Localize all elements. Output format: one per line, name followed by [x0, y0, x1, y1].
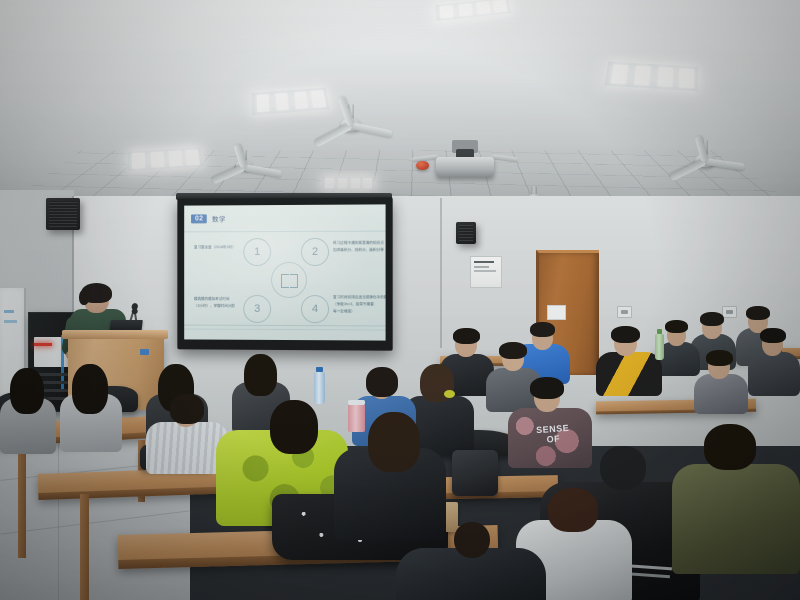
student-hair	[72, 364, 108, 414]
student-hair	[760, 328, 786, 343]
student-hair	[548, 488, 598, 532]
presentation-slide: 02 数学 1 2 3 4 复习整全盘（2018年3月） 练	[184, 204, 385, 340]
power-outlet	[617, 306, 632, 318]
slide-item-circle-2: 2	[301, 238, 329, 266]
slide-item-text-2b: 如求最积分、线积分、面积分等	[333, 248, 384, 253]
slide-item-number: 4	[312, 303, 318, 315]
slide-item-text-3b: （3小时），掌握时间分配	[194, 304, 235, 309]
blue-water-bottle	[314, 372, 325, 404]
slide-item-text-4: 复习时间安排应适当规律化中的题型	[333, 295, 386, 300]
student-yellow-black-jacket	[596, 328, 662, 394]
student-hair	[170, 394, 204, 424]
backpack	[452, 450, 498, 496]
whiteboard-mark	[4, 310, 14, 313]
student-black-hoodie	[334, 418, 446, 536]
lecturer-hair	[81, 283, 112, 303]
student-olive-jacket	[672, 430, 800, 570]
lectern-badge	[140, 349, 149, 355]
slide-item-text-3: 模具题的模拟考试时间	[194, 297, 229, 302]
student-bottom-center	[396, 532, 546, 600]
slide-center-circle	[271, 262, 307, 298]
slide-item-circle-3: 3	[243, 295, 271, 323]
slide-item-text-1: 复习整全盘（2018年3月）	[194, 245, 236, 250]
slide-item-text-4b: （争取3h×3，按章节需要	[333, 302, 374, 307]
projection-screen: 02 数学 1 2 3 4 复习整全盘（2018年3月） 练	[177, 197, 392, 350]
green-water-bottle	[655, 334, 664, 360]
student-right-mid	[748, 330, 800, 392]
slide-item-circle-4: 4	[301, 295, 329, 323]
student-head	[600, 446, 646, 490]
student-torso	[596, 352, 662, 396]
student-head	[454, 522, 490, 558]
student-hair	[530, 377, 564, 399]
hair-tie	[444, 390, 455, 398]
slide-header: 02 数学	[191, 213, 226, 223]
student-hair	[368, 412, 420, 472]
wall-speaker	[456, 222, 476, 244]
slide-item-number: 1	[254, 246, 260, 258]
whiteboard-mark	[4, 320, 17, 323]
student-hair	[10, 368, 44, 414]
student-hair	[499, 342, 527, 359]
classroom-photo: 02 数学 1 2 3 4 复习整全盘（2018年3月） 练	[0, 0, 800, 600]
student-torso	[672, 464, 800, 574]
wall-seam	[440, 198, 442, 348]
student-left-mid	[60, 366, 122, 448]
slide-item-text-4c: 每一定难度）	[333, 309, 355, 314]
student-hair	[270, 400, 318, 454]
student-hair	[530, 322, 555, 337]
desk-leg	[80, 494, 89, 600]
slide-item-number: 3	[254, 303, 260, 315]
door-sign	[547, 305, 566, 320]
slide-item-number: 2	[312, 246, 318, 258]
desk-leg	[18, 440, 26, 558]
student-left-mid	[0, 370, 56, 450]
student-hair	[611, 326, 640, 343]
student-hair	[366, 367, 398, 397]
student-hair	[704, 424, 756, 470]
student-right-mid	[694, 352, 748, 410]
lectern-top	[62, 330, 168, 339]
slide-item-text-2: 练习过程中遇到易混淆的知识点	[333, 241, 384, 246]
student-hair	[706, 350, 733, 366]
slide-section-title: 数学	[212, 213, 226, 223]
wall-notice	[470, 256, 502, 288]
student-hair	[700, 312, 724, 326]
slide-section-number: 02	[191, 214, 207, 223]
student-torso	[748, 352, 800, 396]
slide-item-circle-1: 1	[243, 238, 271, 266]
open-book-icon	[281, 274, 298, 286]
av-status-led	[34, 343, 52, 346]
student-torso	[694, 374, 748, 414]
student-hair	[453, 328, 480, 344]
student-hair	[665, 320, 688, 333]
student-hair	[746, 306, 770, 320]
jacket-print-text: SENSE OF	[523, 422, 582, 446]
wall-speaker	[46, 198, 80, 230]
student-hair	[244, 354, 277, 396]
